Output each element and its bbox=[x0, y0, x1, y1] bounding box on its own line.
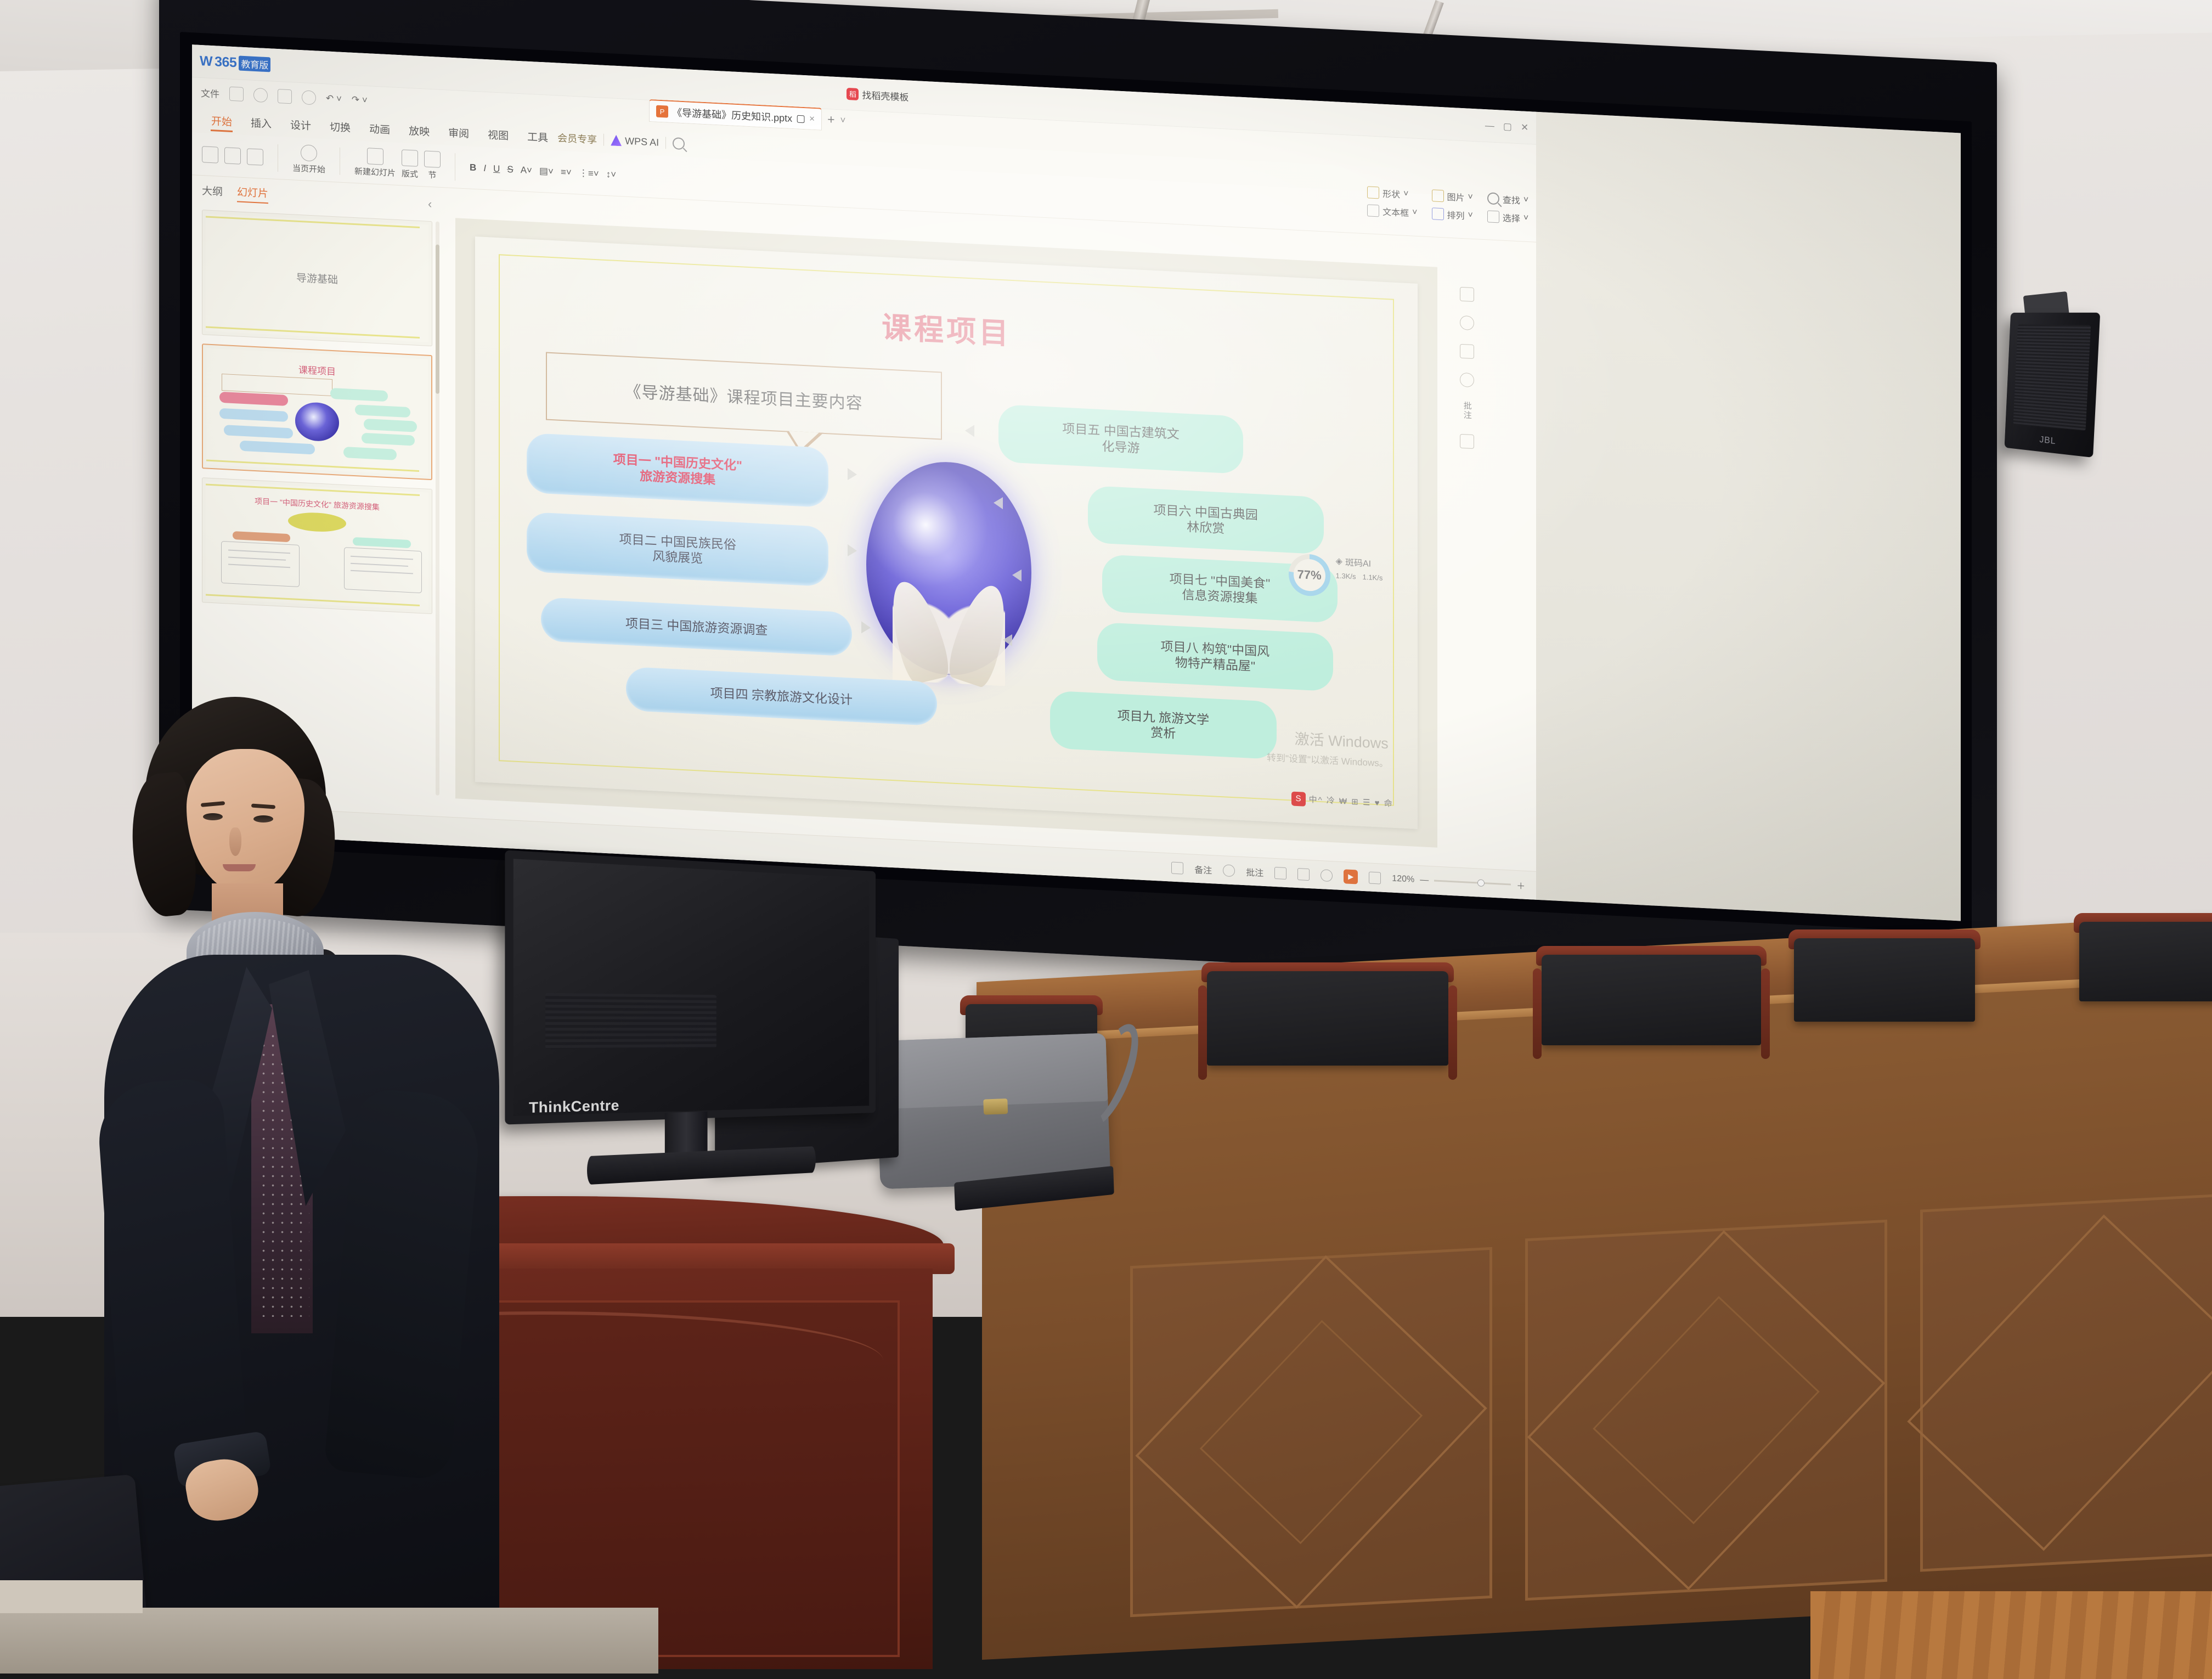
zoom-control[interactable]: 120% — ＋ bbox=[1392, 872, 1525, 892]
connector-arrow-icon bbox=[1003, 634, 1012, 646]
vip-label[interactable]: 会员专享 bbox=[557, 131, 597, 147]
font-color-icon[interactable]: A˅ bbox=[521, 165, 532, 176]
bold-button[interactable]: B bbox=[470, 162, 476, 173]
tab-start[interactable]: 开始 bbox=[202, 109, 241, 133]
select-label: 选择 bbox=[1503, 211, 1520, 225]
layout-label: 版式 bbox=[402, 167, 418, 180]
screen-unprojected-area bbox=[1536, 112, 1961, 921]
connector-arrow-icon bbox=[861, 621, 871, 634]
reading-view-icon[interactable] bbox=[1321, 869, 1333, 882]
wps-ai-label: WPS AI bbox=[625, 135, 659, 148]
thumbnail-title: 导游基础 bbox=[206, 266, 428, 291]
baseboard bbox=[0, 1580, 143, 1613]
copy-button[interactable] bbox=[224, 147, 241, 165]
tab-slide-view[interactable]: 幻灯片 bbox=[237, 184, 268, 204]
wps-logo-name: 365 bbox=[215, 54, 236, 71]
divider bbox=[665, 137, 666, 149]
pill-line-2: 信息资源搜集 bbox=[1182, 587, 1258, 606]
shapes-icon bbox=[1367, 186, 1379, 199]
close-icon[interactable]: ✕ bbox=[1521, 122, 1528, 133]
restore-icon[interactable]: ▢ bbox=[796, 112, 805, 125]
widget-label: 斑码AI bbox=[1345, 555, 1371, 569]
pill-line-2: 物特产精品屋" bbox=[1175, 655, 1255, 674]
wps-ai-icon bbox=[611, 134, 622, 146]
chair bbox=[1207, 971, 1448, 1114]
search-icon[interactable] bbox=[673, 137, 685, 150]
tab-review[interactable]: 审阅 bbox=[439, 121, 478, 144]
pptx-file-icon: P bbox=[656, 105, 668, 118]
slide-frame-line bbox=[206, 484, 420, 496]
chair-arm-left bbox=[1198, 985, 1207, 1080]
minimize-icon[interactable]: — bbox=[1485, 120, 1494, 132]
tab-outline-view[interactable]: 大纲 bbox=[202, 183, 223, 201]
textbox-icon bbox=[1367, 204, 1379, 217]
progress-ring: 77 % bbox=[1289, 553, 1330, 597]
thumbnail-chip bbox=[353, 537, 411, 548]
arrange-label: 排列 bbox=[1447, 208, 1465, 222]
project-pill-9[interactable]: 项目九 旅游文学 赏析 bbox=[1050, 691, 1276, 759]
s-badge-icon: S bbox=[1291, 791, 1306, 806]
project-pill-8[interactable]: 项目八 构筑"中国风 物特产精品屋" bbox=[1097, 622, 1333, 691]
divider bbox=[603, 134, 604, 146]
thumbnail-circle-shape bbox=[288, 511, 346, 533]
chair bbox=[1794, 938, 1975, 1064]
save-icon[interactable] bbox=[229, 87, 244, 102]
eye-right bbox=[253, 815, 273, 822]
wps-logo-mark: W bbox=[200, 53, 212, 70]
template-icon: 稻 bbox=[847, 87, 859, 100]
handbag-flap bbox=[875, 1033, 1108, 1109]
slide-frame-line bbox=[206, 460, 419, 472]
speaker-brand-label: JBL bbox=[2039, 434, 2056, 447]
floor bbox=[0, 1608, 658, 1674]
tab-design[interactable]: 设计 bbox=[281, 113, 320, 137]
zoom-out-button[interactable]: — bbox=[1420, 875, 1429, 886]
handbag-clasp bbox=[983, 1098, 1008, 1115]
wps-logo: W 365 教育版 bbox=[200, 53, 270, 72]
pill-line-2: 林欣赏 bbox=[1187, 519, 1224, 536]
table-panel bbox=[1525, 1220, 1887, 1601]
find-template-button[interactable]: 稻 找稻壳模板 bbox=[847, 87, 909, 104]
canvas-side-rail: 批注 bbox=[1451, 272, 1483, 809]
connector-arrow-icon bbox=[965, 425, 974, 437]
notes-label[interactable]: 备注 bbox=[1194, 862, 1212, 876]
grid-icon[interactable] bbox=[1460, 344, 1474, 359]
scissors-icon bbox=[202, 146, 218, 164]
wps-ai-button[interactable]: WPS AI bbox=[611, 134, 659, 148]
tab-view[interactable]: 视图 bbox=[478, 123, 518, 147]
new-slide-label: 新建幻灯片 bbox=[354, 165, 396, 179]
percent-symbol: % bbox=[1311, 568, 1322, 583]
find-button[interactable]: 查找˅ bbox=[1487, 191, 1528, 207]
find-template-label: 找稻壳模板 bbox=[862, 87, 909, 103]
nose bbox=[229, 827, 241, 856]
textbox-button[interactable]: 文本框˅ bbox=[1367, 204, 1417, 219]
presenter bbox=[104, 697, 510, 1663]
comments-label[interactable]: 批注 bbox=[1246, 865, 1263, 879]
line-spacing-icon[interactable]: ↕˅ bbox=[606, 168, 616, 180]
pill-line-2: 赏析 bbox=[1150, 724, 1176, 741]
zoom-fit-icon[interactable] bbox=[1460, 434, 1474, 449]
rail-label: 批注 bbox=[1462, 401, 1473, 420]
connector-arrow-icon bbox=[1012, 569, 1022, 582]
pill-line-1: 项目四 宗教旅游文化设计 bbox=[710, 685, 853, 708]
slide-frame-line bbox=[206, 594, 420, 606]
pill-line-2: 风貌展览 bbox=[652, 548, 703, 566]
hands-graphic bbox=[893, 557, 1005, 686]
thumbnail-pill bbox=[219, 408, 288, 422]
chair bbox=[1542, 955, 1761, 1092]
section-button[interactable]: 节 bbox=[424, 150, 441, 181]
mouth bbox=[223, 864, 256, 871]
shapes-label: 形状 bbox=[1383, 187, 1400, 201]
play-icon[interactable]: ▶ bbox=[1344, 869, 1358, 884]
net-upload-speed: 1.1K/s bbox=[1362, 573, 1383, 582]
play-circle-icon bbox=[301, 144, 317, 162]
strikethrough-button[interactable]: S bbox=[507, 164, 513, 175]
net-download-speed: 1.3K/s bbox=[1336, 571, 1356, 581]
textbox-label: 文本框 bbox=[1383, 205, 1409, 219]
wall-speaker: JBL bbox=[2005, 313, 2101, 458]
tray-icons-text: 中^ 冷 ₩ ⊞ ☰ ♥ 命 bbox=[1309, 793, 1393, 809]
thumbnail-pill bbox=[330, 388, 388, 401]
tab-list-chevron-down-icon[interactable]: ˅ bbox=[840, 115, 846, 126]
tab-close-icon[interactable]: × bbox=[809, 114, 815, 125]
undo-icon[interactable]: ↶ ˅ bbox=[326, 93, 342, 104]
tab-transition[interactable]: 切换 bbox=[320, 115, 360, 138]
collapse-panel-chevron-left-icon[interactable]: ‹ bbox=[428, 197, 432, 211]
classroom-scene: JBL W 365 教育版 稻 找稻壳模板 bbox=[0, 0, 2212, 1659]
pill-line-2: 旅游资源搜集 bbox=[640, 469, 715, 488]
slide-callout-text: 《导游基础》课程项目主要内容 bbox=[625, 378, 863, 414]
tab-animation[interactable]: 动画 bbox=[360, 117, 399, 140]
normal-view-icon[interactable] bbox=[1274, 866, 1286, 879]
italic-button[interactable]: I bbox=[483, 162, 486, 173]
paste-icon bbox=[247, 148, 263, 166]
table-panel bbox=[1130, 1247, 1492, 1618]
new-slide-button[interactable]: 新建幻灯片 bbox=[354, 147, 396, 179]
chair-back bbox=[1207, 971, 1448, 1066]
connector-arrow-icon bbox=[994, 497, 1003, 510]
list-item[interactable]: 课程项目 bbox=[202, 343, 432, 480]
search-icon bbox=[1487, 192, 1499, 205]
tab-tools[interactable]: 工具 bbox=[518, 125, 557, 148]
cloud-icon[interactable] bbox=[302, 90, 316, 105]
thumbnail-title: 项目一 "中国历史文化" 旅游资源搜集 bbox=[206, 493, 428, 515]
cut-button[interactable] bbox=[202, 146, 218, 164]
activate-windows-watermark: 激活 Windows 转到"设置"以激活 Windows。 bbox=[1267, 726, 1389, 770]
divider bbox=[278, 144, 278, 172]
new-slide-icon bbox=[367, 148, 383, 165]
highlight-icon[interactable]: ▤˅ bbox=[539, 165, 554, 177]
chair-arm-left bbox=[1533, 968, 1542, 1059]
handbag bbox=[875, 1033, 1110, 1189]
view-tab-row: 大纲 幻灯片 bbox=[202, 182, 268, 204]
redo-icon[interactable]: ↷ ˅ bbox=[352, 94, 368, 106]
slide-canvas[interactable]: 课程项目 《导游基础》课程项目主要内容 bbox=[455, 218, 1437, 848]
paste-button[interactable] bbox=[247, 148, 263, 166]
widget-icon: ◈ bbox=[1336, 555, 1342, 567]
monitor-screen: ThinkCentre bbox=[505, 850, 876, 1124]
desktop-monitor: ThinkCentre bbox=[505, 850, 876, 1202]
eye-left bbox=[203, 813, 223, 820]
network-speed-widget[interactable]: 77 % ◈ 斑码AI 1.3K/s 1.1K/s bbox=[1289, 550, 1398, 604]
thumbnail-pill bbox=[364, 419, 417, 432]
font-format-group: B I U S A˅ ▤˅ ≡˅ ⋮≡˅ ↕˅ bbox=[470, 162, 616, 180]
thumbnail-pill bbox=[362, 433, 415, 446]
chair-back bbox=[2079, 922, 2212, 1001]
section-icon bbox=[424, 150, 441, 168]
bullets-icon[interactable]: ⋮≡˅ bbox=[579, 167, 599, 179]
chair-arm-right bbox=[1448, 985, 1457, 1080]
new-tab-button[interactable]: + bbox=[827, 112, 834, 127]
sorter-view-icon[interactable] bbox=[1297, 868, 1310, 881]
notes-icon[interactable] bbox=[1171, 861, 1183, 874]
select-icon bbox=[1487, 210, 1499, 223]
table-panel bbox=[1920, 1193, 2212, 1571]
print-preview-icon[interactable] bbox=[278, 89, 292, 104]
shapes-button[interactable]: 形状˅ bbox=[1367, 185, 1417, 201]
picture-label: 图片 bbox=[1447, 190, 1465, 204]
chair-back bbox=[1542, 955, 1761, 1045]
list-item[interactable]: 导游基础 bbox=[202, 210, 432, 346]
favorite-icon[interactable] bbox=[1460, 315, 1474, 330]
thumbnail-pill bbox=[219, 392, 288, 405]
comment-icon[interactable] bbox=[1223, 864, 1235, 877]
pill-line-1: 项目九 旅游文学 bbox=[1118, 707, 1209, 727]
pill-line-2: 化导游 bbox=[1102, 438, 1140, 455]
connector-arrow-icon bbox=[848, 544, 857, 557]
pointer-icon[interactable] bbox=[1460, 287, 1474, 302]
select-button[interactable]: 选择˅ bbox=[1487, 210, 1528, 225]
divider bbox=[340, 147, 340, 174]
zoom-in-button[interactable]: ＋ bbox=[1516, 878, 1525, 892]
project-pill-6[interactable]: 项目六 中国古典园 林欣赏 bbox=[1088, 485, 1324, 554]
project-pill-5[interactable]: 项目五 中国古建筑文 化导游 bbox=[998, 404, 1244, 474]
tab-insert[interactable]: 插入 bbox=[241, 111, 281, 134]
print-icon[interactable] bbox=[253, 88, 268, 103]
layout-button[interactable]: 版式 bbox=[402, 149, 418, 180]
slide-frame-line bbox=[206, 216, 420, 228]
thumbnail-pill bbox=[224, 425, 292, 438]
thumbnail-pill bbox=[355, 404, 410, 418]
file-menu-button[interactable]: 文件 bbox=[201, 86, 219, 100]
thumbnail-globe-icon bbox=[295, 402, 340, 442]
picture-icon bbox=[1432, 189, 1444, 202]
thumbnail-chip bbox=[233, 531, 291, 542]
zoom-level-label: 120% bbox=[1392, 874, 1414, 884]
align-icon[interactable]: ≡˅ bbox=[561, 166, 572, 178]
list-item[interactable]: 项目一 "中国历史文化" 旅游资源搜集 bbox=[202, 477, 432, 614]
copy-icon bbox=[224, 147, 241, 165]
monitor-vent bbox=[545, 993, 716, 1049]
section-label: 节 bbox=[428, 168, 437, 181]
maximize-icon[interactable]: ▢ bbox=[1503, 121, 1512, 132]
wps-edition-badge: 教育版 bbox=[239, 56, 270, 72]
zoom-slider[interactable] bbox=[1434, 880, 1511, 885]
underline-button[interactable]: U bbox=[493, 163, 500, 174]
speaker-grille bbox=[2013, 324, 2091, 431]
arrange-icon bbox=[1432, 207, 1444, 220]
monitor-stand-base bbox=[587, 1146, 816, 1185]
present-from-page-label: 当页开始 bbox=[292, 162, 325, 175]
divider bbox=[455, 153, 455, 181]
progress-percent: 77 bbox=[1297, 567, 1311, 582]
picture-button[interactable]: 图片˅ bbox=[1432, 189, 1473, 204]
slide-frame-line bbox=[206, 326, 420, 339]
chair-arm-right bbox=[1761, 968, 1770, 1059]
pill-line-1: 项目三 中国旅游资源调查 bbox=[625, 616, 768, 638]
fit-to-window-icon[interactable] bbox=[1369, 871, 1381, 884]
widget-title: ◈ 斑码AI bbox=[1336, 554, 1383, 570]
monitor-brand-label: ThinkCentre bbox=[529, 1097, 619, 1117]
connector-arrow-icon bbox=[848, 468, 857, 481]
floor-wood bbox=[1810, 1591, 2212, 1679]
arrange-button[interactable]: 排列˅ bbox=[1432, 207, 1473, 222]
tab-slideshow[interactable]: 放映 bbox=[399, 119, 439, 143]
chair-back bbox=[1794, 938, 1975, 1022]
thumbnail-pill bbox=[343, 447, 397, 460]
layout-icon bbox=[402, 149, 418, 167]
chair bbox=[2079, 922, 2212, 1043]
panel-diamond bbox=[1907, 1214, 2212, 1551]
present-from-current-page-button[interactable]: 当页开始 bbox=[292, 144, 325, 175]
find-label: 查找 bbox=[1503, 193, 1520, 207]
document-tab-title: 《导游基础》历史知识.pptx bbox=[672, 105, 792, 125]
hand-left bbox=[882, 577, 952, 685]
thumbnail-pill bbox=[240, 441, 315, 455]
comment-icon[interactable] bbox=[1460, 373, 1474, 387]
